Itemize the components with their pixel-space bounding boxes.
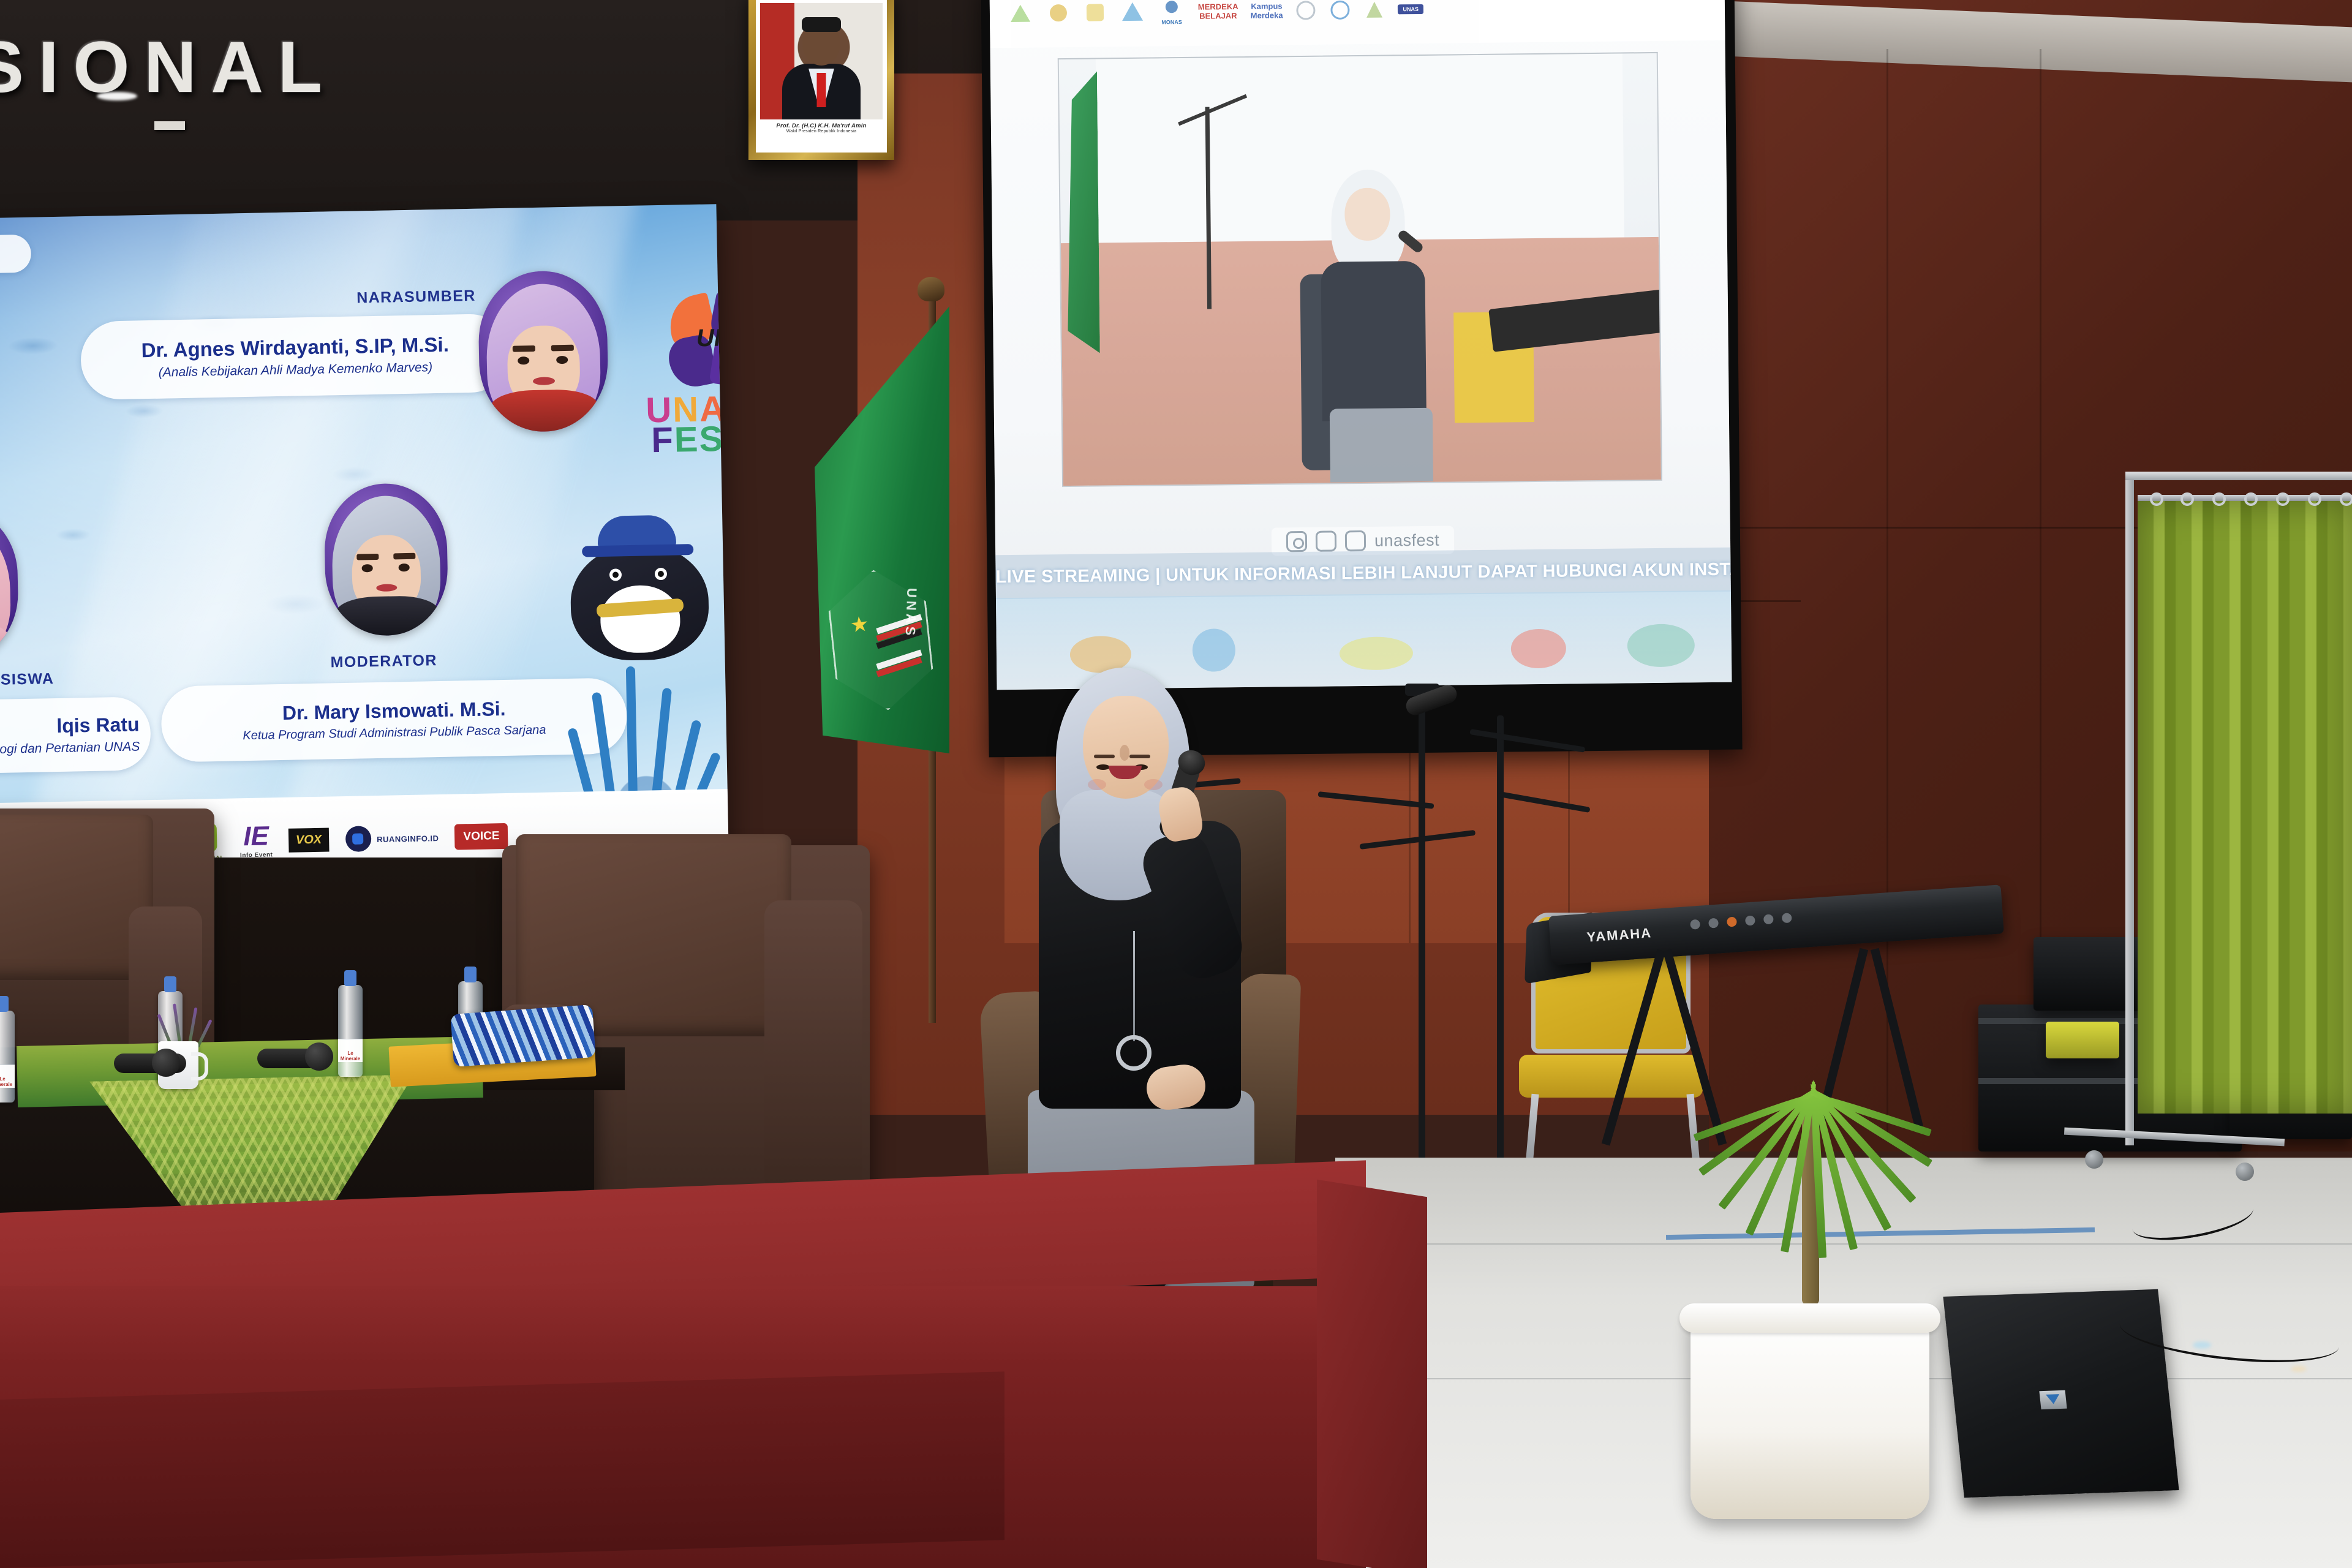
water-bottle[interactable]: Le Minerale xyxy=(0,1011,15,1102)
partner-logo-voice: VOICE xyxy=(454,823,508,850)
portrait-role: Wakil Presiden Republik Indonesia xyxy=(760,129,883,134)
banner-student-name: lqis Ratu xyxy=(56,713,140,737)
sponsor-logo xyxy=(1046,1,1071,25)
feed-speaker xyxy=(1305,169,1449,477)
flag-label: UNAS xyxy=(902,588,920,639)
banner-speaker-name: Dr. Agnes Wirdayanti, S.IP, M.Si. xyxy=(141,333,449,363)
unasfest-logo-initials: UF xyxy=(696,324,729,352)
speaker-necklace xyxy=(1133,931,1135,1041)
wall-letters: SIONAL xyxy=(0,26,337,109)
banner-moderator-affiliation: Ketua Program Studi Administrasi Publik … xyxy=(243,723,546,743)
sponsor-logo xyxy=(1363,0,1385,21)
floor-light-reflection xyxy=(2193,1341,2211,1349)
water-bottle-label: Le Minerale xyxy=(338,1039,363,1062)
curtain-ring xyxy=(2340,492,2352,506)
banner-moderator-pill: Dr. Mary Ismowati. M.Si. Ketua Program S… xyxy=(160,677,627,763)
tiktok-icon xyxy=(1316,530,1336,551)
microphone-head-icon xyxy=(305,1042,333,1071)
banner-speaker-affiliation: (Analis Kebijakan Ahli Madya Kemenko Mar… xyxy=(159,360,433,380)
projection-social-handle: unasfest xyxy=(1374,530,1439,550)
wall-letter-dash xyxy=(154,121,185,130)
curtain-ring xyxy=(2150,492,2163,506)
feed-flag xyxy=(1065,71,1100,353)
stage-scene: SIONAL Prof. Dr. (H.C) K.H. Ma'ruf Amin … xyxy=(0,0,2352,1568)
keyboard-controls[interactable] xyxy=(1690,913,1792,930)
curtain-ring xyxy=(2244,492,2258,506)
sponsor-logo-unas: UNAS xyxy=(1398,4,1423,14)
banner-moderator-label: MODERATOR xyxy=(330,652,437,671)
sponsor-logo-kampus-merdeka: Kampus Merdeka xyxy=(1251,1,1283,20)
portrait-name: Prof. Dr. (H.C) K.H. Ma'ruf Amin xyxy=(760,123,883,129)
wall-seam-vertical xyxy=(1887,49,1888,1139)
unasfest-logo-mark: UF xyxy=(666,295,729,389)
curtain-ring xyxy=(2308,492,2321,506)
portrait-glare xyxy=(97,92,137,100)
partner-logo-ie: IE Info Event xyxy=(239,823,273,859)
projection-ticker-text: LIVE STREAMING | UNTUK INFORMASI LEBIH L… xyxy=(995,557,1732,587)
floor-light-reflection xyxy=(2291,1366,2307,1372)
framed-portrait: Prof. Dr. (H.C) K.H. Ma'ruf Amin Wakil P… xyxy=(748,0,894,160)
partner-logo-catchvox: VOX xyxy=(288,827,330,852)
sponsor-logo xyxy=(1329,0,1351,21)
keyboard-brand-label: YAMAHA xyxy=(1586,925,1653,945)
instagram-icon xyxy=(1286,531,1307,552)
partner-logo-ruanginfo: RUANGINFO.ID xyxy=(345,824,439,853)
sponsor-logo-monas: MONAS xyxy=(1158,0,1186,25)
unasfest-logo: UF UNAS 20 FEST 23 xyxy=(620,294,729,500)
green-curtain xyxy=(2138,501,2352,1114)
speaker-pendant xyxy=(1116,1035,1151,1071)
banner-speaker-avatar xyxy=(477,270,609,433)
banner-narasumber-label: NARASUMBER xyxy=(356,287,476,307)
sponsor-logo-merdeka: MERDEKA BELAJAR xyxy=(1198,2,1238,21)
batik-cloth-roll xyxy=(450,1005,595,1067)
projection-screen: MONAS MERDEKA BELAJAR Kampus Merdeka xyxy=(981,0,1742,757)
water-bottle-label: Le Minerale xyxy=(0,1065,15,1088)
rack-caster xyxy=(2085,1150,2103,1169)
sponsor-logo xyxy=(1007,1,1034,26)
banner-moderator-name: Dr. Mary Ismowati. M.Si. xyxy=(282,698,506,725)
banner-student-label: RI MAHASISWA xyxy=(0,670,55,690)
plant-pot xyxy=(1691,1311,1929,1519)
curtain-ring xyxy=(2212,492,2226,506)
rack-caster xyxy=(2236,1163,2254,1181)
plant-pot-rim xyxy=(1679,1303,1940,1333)
flower-sprig xyxy=(164,998,207,1047)
sponsor-logo xyxy=(1083,0,1107,24)
sponsor-logo xyxy=(1120,0,1145,24)
ruanginfo-icon xyxy=(345,825,372,853)
water-bottle[interactable]: Le Minerale xyxy=(338,985,363,1077)
curtain-rack-post xyxy=(2125,472,2134,1145)
banner-student-pill: lqis Ratu Biologi dan Pertanian UNAS xyxy=(0,696,151,776)
projection-content: MONAS MERDEKA BELAJAR Kampus Merdeka xyxy=(989,0,1732,690)
projection-live-feed xyxy=(1058,52,1662,487)
curtain-rack-bar xyxy=(2125,472,2352,480)
banner-student-affiliation: Biologi dan Pertanian UNAS xyxy=(0,739,140,757)
curtain-ring xyxy=(2180,492,2194,506)
microphone-head-icon xyxy=(152,1049,180,1077)
stage-step xyxy=(0,1371,1005,1568)
curtain-ring xyxy=(2276,492,2290,506)
monitor-badge-icon xyxy=(2039,1390,2067,1409)
event-banner: Marves) NARASUMBER Dr. Agnes Wirdayanti,… xyxy=(0,204,729,889)
flag-finial xyxy=(918,277,944,301)
unasfest-wordmark-line2: FEST 23 xyxy=(622,421,729,458)
stage-edge-right xyxy=(1317,1180,1427,1568)
projection-surface: MONAS MERDEKA BELAJAR Kampus Merdeka xyxy=(989,0,1732,690)
youtube-icon xyxy=(1345,530,1366,551)
yellow-equipment-box xyxy=(2046,1022,2119,1058)
portrait-photo xyxy=(760,3,883,119)
flag-star-icon: ★ xyxy=(849,612,870,638)
banner-speaker-pill: Dr. Agnes Wirdayanti, S.IP, M.Si. (Anali… xyxy=(80,314,510,400)
armchair-arm-right xyxy=(764,900,862,1194)
sponsor-logo xyxy=(1295,0,1317,21)
banner-moderator-avatar xyxy=(323,483,449,637)
potted-plant xyxy=(1709,1066,1911,1323)
projection-sponsor-strip: MONAS MERDEKA BELAJAR Kampus Merdeka xyxy=(989,0,1725,48)
